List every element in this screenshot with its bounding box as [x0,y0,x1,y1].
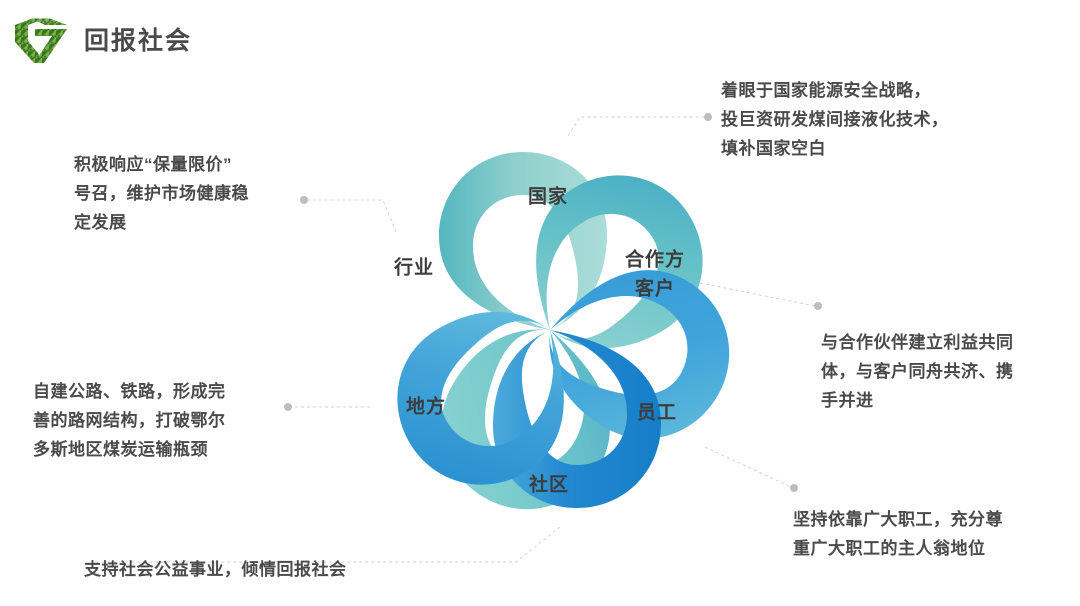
connector-dot-employee [790,484,798,492]
callout-employee: 坚持依靠广大职工，充分尊 重广大职工的主人翁地位 [793,505,1058,563]
page-header: 回报社会 [14,16,192,66]
callout-local: 自建公路、铁路，形成完 善的路网结构，打破鄂尔 多斯地区煤炭运输瓶颈 [33,377,293,465]
callout-industry: 积极响应“保量限价” 号召，维护市场健康稳 定发展 [74,150,324,238]
six-petal-flower-diagram: 国家 合作方 客户 员工 社区 地方 行业 [332,105,768,535]
petal-label-community: 社区 [529,470,569,499]
petal-label-local: 地方 [406,392,446,421]
petal-label-industry: 行业 [394,253,434,282]
connector-dot-partner [814,302,822,310]
page-title: 回报社会 [84,29,192,54]
petal-label-country: 国家 [528,182,568,211]
green-diamond-arrow-logo-icon [14,16,70,66]
callout-country: 着眼于国家能源安全战略， 投巨资研发煤间接液化技术， 填补国家空白 [721,76,1041,164]
petal-label-partner: 合作方 客户 [625,246,685,305]
petal-label-employee: 员工 [637,398,677,427]
callout-partner: 与合作伙伴建立利益共同 体，与客户同舟共济、携 手并进 [821,328,1071,416]
callout-community: 支持社会公益事业，倾情回报社会 [84,555,484,584]
